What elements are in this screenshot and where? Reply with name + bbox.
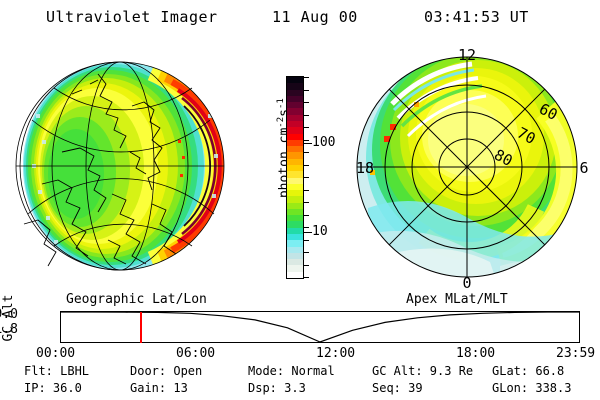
status-footer: Flt: LBHLDoor: OpenMode: NormalGC Alt: 9… <box>0 364 600 398</box>
altitude-ytick-1: 1.8 <box>0 325 18 335</box>
header-bar: Ultraviolet Imager 11 Aug 00 03:41:53 UT <box>0 8 600 32</box>
colorbar-minor-tick <box>303 165 309 166</box>
colorbar-minor-tick <box>303 152 309 153</box>
colorbar-minor-tick <box>303 277 309 278</box>
altitude-ytick-0: 9.0 <box>0 310 18 320</box>
instrument-title: Ultraviolet Imager <box>46 8 218 26</box>
status-gain: Gain: 13 <box>130 381 188 395</box>
status-dsp: Dsp: 3.3 <box>248 381 306 395</box>
mlt-label-0: 0 <box>462 274 471 290</box>
altitude-xtick-1800: 18:00 <box>456 346 495 361</box>
altitude-curve <box>60 311 580 343</box>
status-flt: Flt: LBHL <box>24 364 89 378</box>
colorbar-major-tick-10 <box>303 232 312 233</box>
colorbar-minor-tick <box>303 190 309 191</box>
globe-image <box>2 44 264 288</box>
current-time-marker <box>140 312 142 343</box>
colorbar-major-tick-100 <box>303 143 312 144</box>
colorbar-band-0 <box>287 272 303 278</box>
apex-polar-panel: 12 6 0 18 60 70 80 <box>350 40 600 290</box>
colorbar-minor-tick <box>303 202 309 203</box>
colorbar-label-exp2: -1 <box>276 98 286 109</box>
colorbar-minor-tick <box>303 127 309 128</box>
altitude-xtick-1200: 12:00 <box>316 346 355 361</box>
polar-emission <box>350 40 600 290</box>
colorbar-minor-tick <box>303 115 309 116</box>
colorbar-label-exp1: -2 <box>276 117 286 128</box>
colorbar-minor-tick <box>303 102 309 103</box>
colorbar-minor-tick <box>303 140 309 141</box>
colorbar-minor-tick <box>303 177 309 178</box>
geographic-globe-panel <box>2 44 264 288</box>
status-seq: Seq: 39 <box>372 381 423 395</box>
status-glat: GLat: 66.8 <box>492 364 564 378</box>
colorbar-minor-tick <box>303 77 309 78</box>
colorbar-tick-label-100: 100 <box>312 138 335 148</box>
mlt-label-18: 18 <box>356 159 374 177</box>
colorbar-minor-tick <box>303 90 309 91</box>
altitude-timeline-panel: Geographic Lat/Lon Apex MLat/MLT GC Alt … <box>0 290 600 360</box>
colorbar-minor-tick <box>303 227 309 228</box>
colorbar-minor-tick <box>303 240 309 241</box>
status-glon: GLon: 338.3 <box>492 381 571 395</box>
uvi-screenshot: Ultraviolet Imager 11 Aug 00 03:41:53 UT <box>0 0 600 400</box>
status-ip: IP: 36.0 <box>24 381 82 395</box>
altitude-xtick-2359: 23:59 <box>556 346 595 361</box>
colorbar-gradient <box>286 76 304 279</box>
observation-date: 11 Aug 00 <box>272 8 358 26</box>
status-door: Door: Open <box>130 364 202 378</box>
altitude-xtick-0000: 00:00 <box>36 346 75 361</box>
colorbar-minor-tick <box>303 265 309 266</box>
colorbar-minor-tick <box>303 252 309 253</box>
observation-time: 03:41:53 UT <box>424 8 529 26</box>
colorbar-minor-tick <box>303 215 309 216</box>
colorbar-panel: photon cm-2s-1 10010 <box>262 44 350 290</box>
mlt-label-12: 12 <box>458 46 476 64</box>
polar-grid <box>357 57 577 277</box>
altitude-xtick-0600: 06:00 <box>176 346 215 361</box>
status-gc-alt: GC Alt: 9.3 Re <box>372 364 473 378</box>
colorbar-tick-label-10: 10 <box>312 227 328 237</box>
polar-image: 12 6 0 18 60 70 80 <box>350 40 600 290</box>
status-mode: Mode: Normal <box>248 364 335 378</box>
mlt-label-6: 6 <box>579 159 588 177</box>
globe-panel-title: Geographic Lat/Lon <box>66 292 207 307</box>
polar-panel-title: Apex MLat/MLT <box>406 292 508 307</box>
